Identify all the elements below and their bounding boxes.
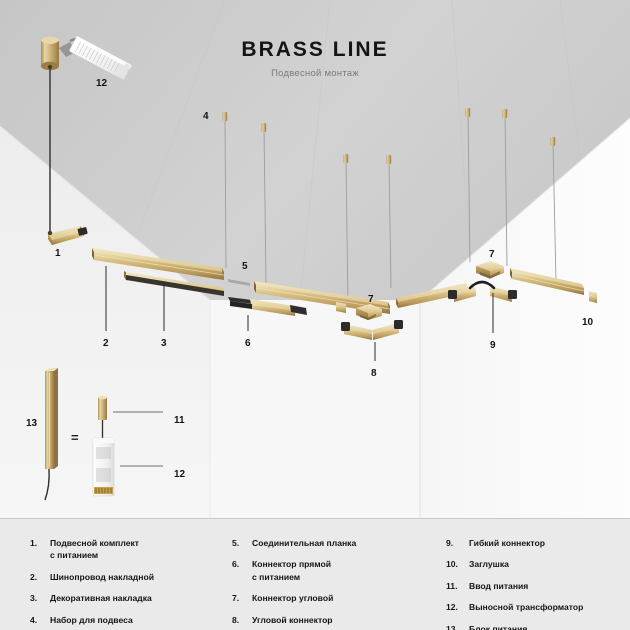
legend-item: 4.Набор для подвеса [30,614,222,626]
legend-item: 5.Соединительная планка [232,537,408,549]
legend-item-label: Коннектор прямой с питанием [252,558,331,583]
page-subtitle: Подвесной монтаж [0,68,630,79]
callout-number-9: 9 [490,341,496,351]
legend-item-number: 4. [30,614,50,626]
callout-number-13: 13 [26,419,37,429]
callout-number-7a: 7 [368,295,374,305]
callout-number-7b: 7 [489,250,495,260]
legend-item: 9.Гибкий коннектор [446,537,608,549]
legend-item-number: 2. [30,571,50,583]
callout-number-1: 1 [55,249,61,259]
legend-item: 10.Заглушка [446,558,608,570]
legend-item-number: 1. [30,537,50,562]
legend-item-number: 13. [446,623,469,630]
legend-item-label: Коннектор угловой [252,592,333,604]
legend-item-number: 5. [232,537,252,549]
legend-item-number: 10. [446,558,469,570]
legend-item: 2.Шинопровод накладной [30,571,222,583]
legend-item-number: 9. [446,537,469,549]
page-title: BRASS LINE [0,38,630,62]
part-10-end-cap [589,291,597,303]
legend-item-number: 7. [232,592,252,604]
legend-item-number: 6. [232,558,252,583]
legend-item-label: Заглушка [469,558,509,570]
legend-item-label: Подвесной комплект с питанием [50,537,139,562]
legend-column-1: 1.Подвесной комплект с питанием2.Шинопро… [0,519,222,630]
legend-item: 1.Подвесной комплект с питанием [30,537,222,562]
legend-item-number: 8. [232,614,252,630]
product-diagram-page: BRASS LINE Подвесной монтаж 123456787910… [0,0,630,630]
legend-item-label: Соединительная планка [252,537,356,549]
legend-item-number: 11. [446,580,469,592]
legend-item: 12.Выносной трансформатор [446,601,608,613]
legend-item-number: 12. [446,601,469,613]
part-12-transformer-bottom [93,438,114,496]
callout-number-6: 6 [245,339,251,349]
callout-number-4: 4 [203,112,209,122]
legend-column-3: 9.Гибкий коннектор10.Заглушка11.Ввод пит… [408,519,608,630]
legend-item: 8.Угловой коннектор с питанием [232,614,408,630]
legend-item: 13.Блок питания [446,623,608,630]
legend-item: 6.Коннектор прямой с питанием [232,558,408,583]
callout-number-12t: 12 [96,79,107,89]
legend-column-2: 5.Соединительная планка6.Коннектор прямо… [222,519,408,630]
legend-item: 7.Коннектор угловой [232,592,408,604]
legend-item-label: Угловой коннектор с питанием [252,614,333,630]
legend-item-label: Выносной трансформатор [469,601,583,613]
legend-item-label: Ввод питания [469,580,528,592]
legend-item: 11.Ввод питания [446,580,608,592]
title-block: BRASS LINE Подвесной монтаж [0,38,630,79]
legend-item-label: Набор для подвеса [50,614,133,626]
legend: 1.Подвесной комплект с питанием2.Шинопро… [0,519,630,630]
callout-number-12: 12 [174,470,185,480]
legend-item-label: Блок питания [469,623,527,630]
legend-item-label: Шинопровод накладной [50,571,154,583]
callout-number-5: 5 [242,262,248,272]
legend-item: 3.Декоративная накладка [30,592,222,604]
legend-item-number: 3. [30,592,50,604]
callout-number-11: 11 [174,416,185,426]
callout-number-2: 2 [103,339,109,349]
callout-number-3: 3 [161,339,167,349]
legend-item-label: Декоративная накладка [50,592,152,604]
callout-number-10: 10 [582,318,593,328]
equals-symbol: = [71,430,79,445]
callout-number-8: 8 [371,369,377,379]
legend-item-label: Гибкий коннектор [469,537,545,549]
